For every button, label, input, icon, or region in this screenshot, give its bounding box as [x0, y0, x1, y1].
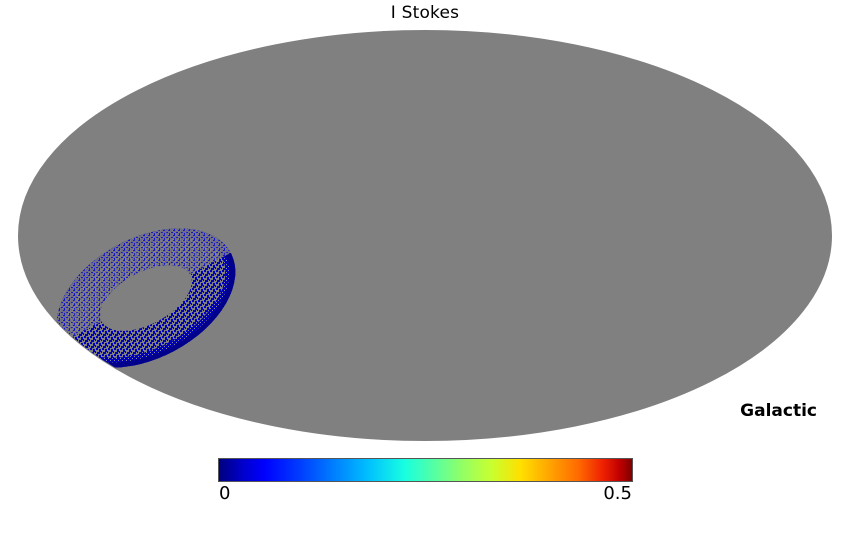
figure-canvas: I Stokes	[0, 0, 850, 540]
data-region-annulus	[18, 30, 832, 441]
colorbar-min-label: 0	[219, 484, 230, 504]
colorbar-max-label: 0.5	[603, 484, 632, 504]
coordinate-system-label: Galactic	[740, 401, 817, 421]
colorbar[interactable]: 0 0.5	[218, 458, 633, 504]
page-title: I Stokes	[0, 3, 850, 23]
colorbar-gradient[interactable]	[218, 458, 633, 482]
sky-map-projection[interactable]	[18, 30, 832, 441]
mollweide-projection-svg	[18, 30, 832, 441]
